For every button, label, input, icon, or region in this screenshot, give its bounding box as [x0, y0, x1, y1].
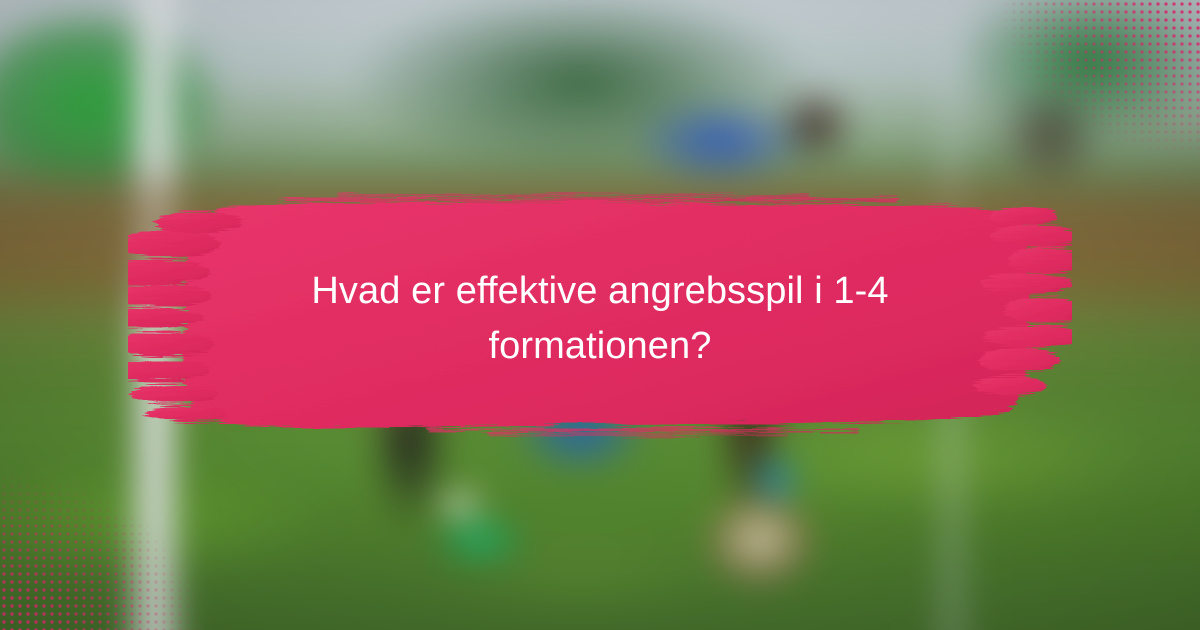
- headline-line-2: formationen?: [488, 325, 711, 367]
- headline-line-1: Hvad er effektive angrebsspil i 1-4: [311, 270, 888, 312]
- headline-banner: Hvad er effektive angrebsspil i 1-4 form…: [0, 192, 1200, 442]
- social-card-stage: Hvad er effektive angrebsspil i 1-4 form…: [0, 0, 1200, 630]
- page-title: Hvad er effektive angrebsspil i 1-4 form…: [220, 264, 980, 374]
